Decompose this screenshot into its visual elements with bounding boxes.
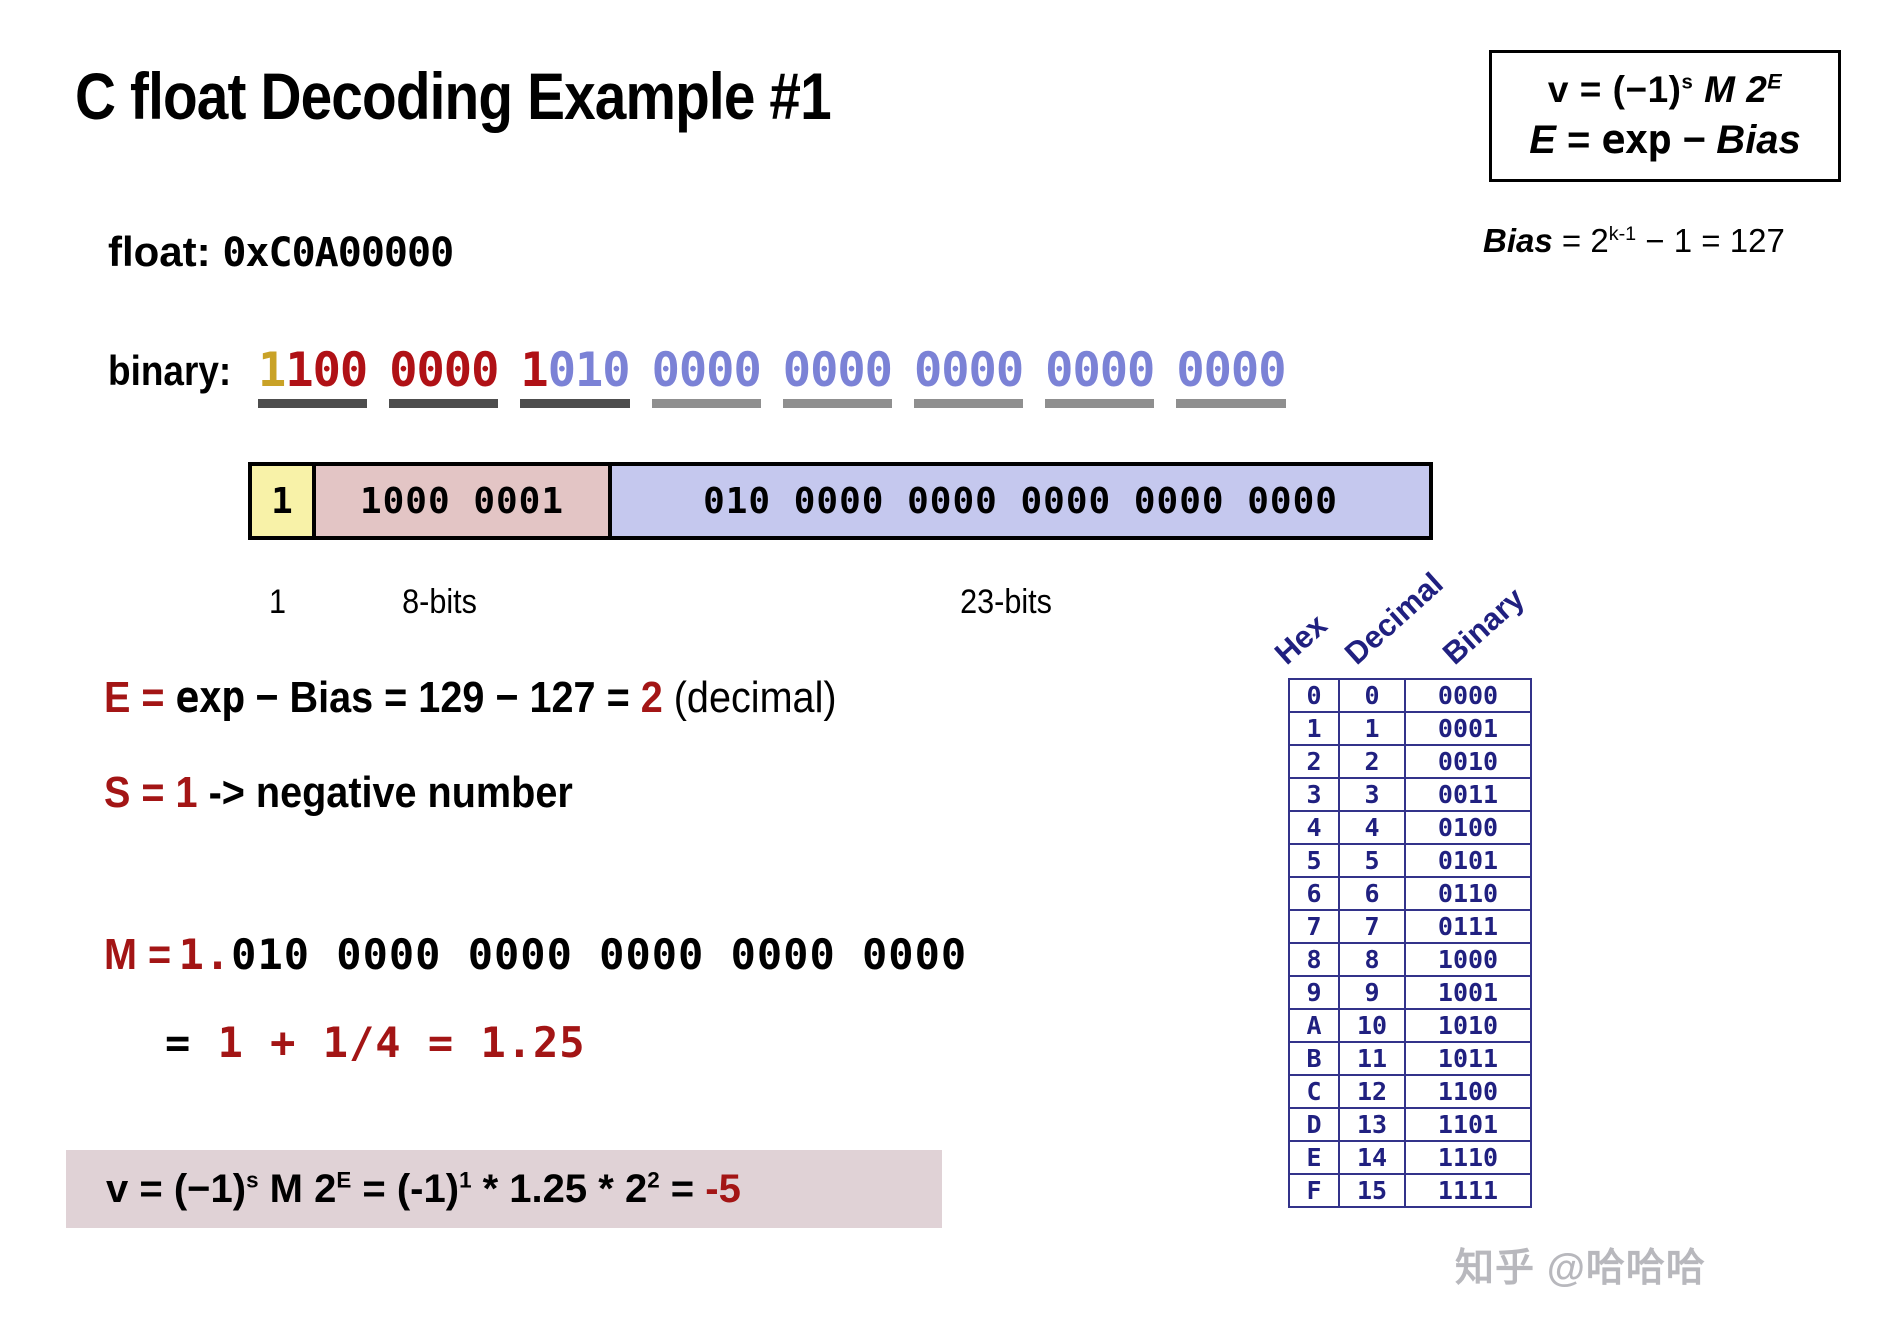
hex-cell: E	[1289, 1141, 1339, 1174]
binary-bits-sign: 1	[258, 343, 285, 398]
binary-bits-man: 0000	[1045, 343, 1154, 398]
decimal-cell: 0	[1339, 679, 1405, 712]
result-sup-2: 2	[647, 1167, 659, 1192]
eq-E-lhs: E =	[104, 673, 176, 722]
binary-cell: 0101	[1405, 844, 1531, 877]
binary-cell: 0011	[1405, 778, 1531, 811]
formula-E-symbol: E	[1529, 118, 1556, 162]
binary-cell: 1000	[1405, 943, 1531, 976]
binary-nibble-6: 0000	[1045, 345, 1154, 408]
hex-cell: 5	[1289, 844, 1339, 877]
bitfield-exponent-cell: 1000 0001	[316, 466, 612, 536]
table-row: 660110	[1289, 877, 1531, 910]
result-value: -5	[705, 1167, 741, 1211]
equation-mantissa: M = 1.010 0000 0000 0000 0000 0000	[104, 930, 967, 980]
eq-M-lhs: M =	[104, 930, 171, 980]
eq-M-leading-one: 1.	[179, 930, 232, 979]
table-row: D131101	[1289, 1108, 1531, 1141]
table-row: 110001	[1289, 712, 1531, 745]
hex-cell: D	[1289, 1108, 1339, 1141]
decimal-cell: 14	[1339, 1141, 1405, 1174]
hex-cell: 6	[1289, 877, 1339, 910]
decimal-cell: 12	[1339, 1075, 1405, 1108]
binary-cell: 1011	[1405, 1042, 1531, 1075]
bitfield-diagram: 1 1000 0001 010 0000 0000 0000 0000 0000	[248, 462, 1433, 540]
decimal-cell: 9	[1339, 976, 1405, 1009]
result-mid: M 2	[259, 1167, 337, 1211]
formula-value-line: v = (−1)s M 2E	[1548, 69, 1782, 111]
hex-cell: B	[1289, 1042, 1339, 1075]
hex-table-header-hex: Hex	[1268, 607, 1334, 672]
result-sup-E: E	[336, 1167, 351, 1192]
binary-nibble-5: 0000	[914, 345, 1023, 408]
equation-mantissa-value: = 1 + 1/4 = 1.25	[165, 1018, 586, 1068]
formula-box: v = (−1)s M 2E E = exp − Bias	[1489, 50, 1841, 182]
table-row: 000000	[1289, 679, 1531, 712]
equation-sign: S = 1 -> negative number	[104, 768, 625, 818]
table-row: E141110	[1289, 1141, 1531, 1174]
result-tail: = (-1)	[351, 1167, 459, 1211]
bitfield-label-mantissa: 23-bits	[960, 583, 1052, 622]
eq-S-lhs: S = 1	[104, 768, 198, 817]
table-row: 440100	[1289, 811, 1531, 844]
table-row: A101010	[1289, 1009, 1531, 1042]
binary-bits-man: 0000	[783, 343, 892, 398]
bias-formula-suffix: − 1 = 127	[1636, 222, 1785, 259]
eq-E-note: (decimal)	[663, 673, 837, 722]
table-row: 550101	[1289, 844, 1531, 877]
decimal-cell: 7	[1339, 910, 1405, 943]
table-row: 220010	[1289, 745, 1531, 778]
hex-cell: 0	[1289, 679, 1339, 712]
binary-nibble-0: 1100	[258, 345, 367, 408]
result-equation: v = (−1)s M 2E = (-1)1 * 1.25 * 22 = -5	[66, 1167, 741, 1212]
result-prefix: v = (−1)	[106, 1167, 246, 1211]
result-tail2: * 1.25 * 2	[472, 1167, 648, 1211]
eq-M2-value: 1 + 1/4 = 1.25	[218, 1018, 586, 1067]
decimal-cell: 8	[1339, 943, 1405, 976]
binary-cell: 1010	[1405, 1009, 1531, 1042]
binary-cell: 1101	[1405, 1108, 1531, 1141]
binary-cell: 0111	[1405, 910, 1531, 943]
formula-v-prefix: v = (−1)	[1548, 69, 1682, 110]
equation-exponent: E = exp − Bias = 129 − 127 = 2 (decimal)	[104, 672, 918, 723]
table-row: 770111	[1289, 910, 1531, 943]
decimal-cell: 11	[1339, 1042, 1405, 1075]
binary-nibble-1: 0000	[389, 345, 498, 408]
binary-cell: 1001	[1405, 976, 1531, 1009]
hex-cell: C	[1289, 1075, 1339, 1108]
hex-cell: A	[1289, 1009, 1339, 1042]
binary-cell: 1110	[1405, 1141, 1531, 1174]
binary-nibble-4: 0000	[783, 345, 892, 408]
eq-E-middle: − Bias = 129 − 127 =	[244, 673, 640, 722]
binary-nibble-2: 1010	[520, 345, 629, 408]
formula-minus-bias: − Bias	[1671, 118, 1801, 162]
binary-bits-exp: 100	[285, 343, 367, 398]
hex-cell: F	[1289, 1174, 1339, 1207]
hex-table-header-decimal: Decimal	[1338, 566, 1450, 672]
bias-exponent: k-1	[1609, 223, 1636, 245]
bitfield-sign-cell: 1	[252, 466, 316, 536]
hex-table-headers: Hex Decimal Binary	[1288, 590, 1536, 678]
binary-cell: 1100	[1405, 1075, 1531, 1108]
hex-cell: 9	[1289, 976, 1339, 1009]
decimal-cell: 13	[1339, 1108, 1405, 1141]
binary-bits-exp: 1	[520, 343, 547, 398]
bias-label: Bias	[1483, 222, 1553, 259]
binary-nibble-3: 0000	[652, 345, 761, 408]
binary-bits-man: 010	[548, 343, 630, 398]
formula-M-2: M 2	[1693, 69, 1767, 110]
decimal-cell: 1	[1339, 712, 1405, 745]
result-tail3: =	[660, 1167, 706, 1211]
hex-table-header-binary: Binary	[1436, 581, 1532, 672]
page-title: C float Decoding Example #1	[75, 58, 831, 134]
formula-exp-keyword: exp	[1601, 117, 1670, 163]
table-row: 991001	[1289, 976, 1531, 1009]
binary-cell: 0010	[1405, 745, 1531, 778]
result-highlight-band: v = (−1)s M 2E = (-1)1 * 1.25 * 22 = -5	[66, 1150, 942, 1228]
decimal-cell: 4	[1339, 811, 1405, 844]
binary-bits-man: 0000	[1176, 343, 1285, 398]
formula-equals: =	[1556, 118, 1602, 162]
eq-S-rest: -> negative number	[198, 768, 573, 817]
binary-nibble-list: 11000000101000000000000000000000	[258, 345, 1308, 408]
table-row: 330011	[1289, 778, 1531, 811]
float-hex-line: float: 0xC0A00000	[108, 228, 453, 276]
hex-cell: 2	[1289, 745, 1339, 778]
hex-cell: 1	[1289, 712, 1339, 745]
bitfield-label-sign: 1	[269, 583, 286, 622]
decimal-cell: 6	[1339, 877, 1405, 910]
binary-bits-man: 0000	[914, 343, 1023, 398]
binary-cell: 0000	[1405, 679, 1531, 712]
table-row: 881000	[1289, 943, 1531, 976]
bias-formula-prefix: = 2	[1553, 222, 1609, 259]
binary-bits-man: 0000	[652, 343, 761, 398]
binary-cell: 0110	[1405, 877, 1531, 910]
binary-cell: 0100	[1405, 811, 1531, 844]
formula-exponent-line: E = exp − Bias	[1529, 117, 1801, 163]
formula-sup-E: E	[1767, 70, 1782, 94]
binary-nibble-7: 0000	[1176, 345, 1285, 408]
hex-decimal-binary-table: Hex Decimal Binary 000000110001220010330…	[1288, 590, 1536, 1208]
hex-cell: 4	[1289, 811, 1339, 844]
decimal-cell: 2	[1339, 745, 1405, 778]
result-sup-1: 1	[459, 1167, 471, 1192]
decimal-cell: 10	[1339, 1009, 1405, 1042]
hex-table-body: 0000001100012200103300114401005501016601…	[1288, 678, 1532, 1208]
eq-E-result: 2	[641, 673, 663, 722]
bitfield-label-exponent: 8-bits	[402, 583, 477, 622]
hex-cell: 3	[1289, 778, 1339, 811]
table-row: C121100	[1289, 1075, 1531, 1108]
binary-cell: 0001	[1405, 712, 1531, 745]
bias-definition: Bias = 2k-1 − 1 = 127	[1483, 222, 1785, 260]
float-label: float:	[108, 228, 211, 275]
hex-cell: 8	[1289, 943, 1339, 976]
table-row: B111011	[1289, 1042, 1531, 1075]
formula-sup-s: s	[1681, 72, 1693, 94]
eq-E-exp-keyword: exp	[176, 672, 245, 723]
eq-M-bits: 010 0000 0000 0000 0000 0000	[231, 930, 967, 979]
binary-line: binary: 11000000101000000000000000000000	[108, 345, 1308, 408]
table-row: F151111	[1289, 1174, 1531, 1207]
result-sup-s: s	[246, 1167, 258, 1192]
decimal-cell: 3	[1339, 778, 1405, 811]
binary-cell: 1111	[1405, 1174, 1531, 1207]
bitfield-mantissa-cell: 010 0000 0000 0000 0000 0000	[612, 466, 1429, 536]
eq-M2-equals: =	[165, 1018, 218, 1067]
decimal-cell: 15	[1339, 1174, 1405, 1207]
float-hex-value: 0xC0A00000	[222, 230, 453, 276]
watermark: 知乎 @哈哈哈	[1455, 1237, 1706, 1293]
binary-bits-exp: 0000	[389, 343, 498, 398]
hex-cell: 7	[1289, 910, 1339, 943]
decimal-cell: 5	[1339, 844, 1405, 877]
binary-label: binary:	[108, 345, 240, 397]
